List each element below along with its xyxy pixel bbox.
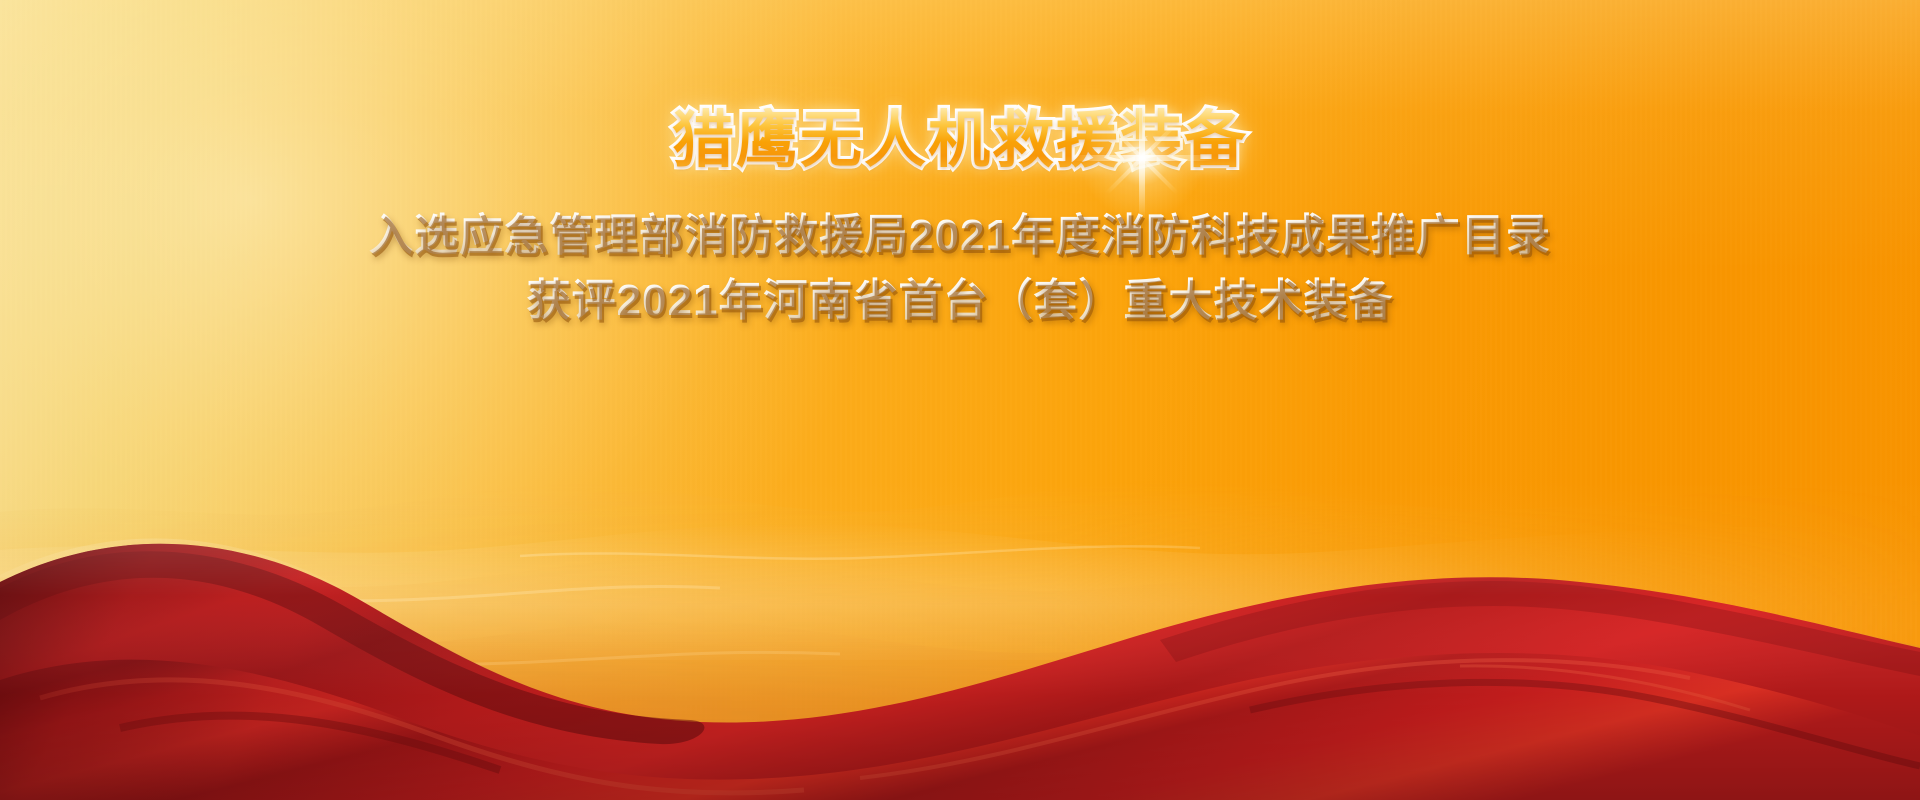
banner-text-block: 猎鹰无人机救援装备 猎鹰无人机救援装备 [0, 108, 1920, 331]
page-title: 猎鹰无人机救援装备 [672, 108, 1248, 173]
promo-banner: 猎鹰无人机救援装备 猎鹰无人机救援装备 [0, 0, 1920, 800]
subtitle-line-1: 入选应急管理部消防救援局2021年度消防科技成果推广目录 [0, 207, 1920, 266]
subtitle-line-2: 获评2021年河南省首台（套）重大技术装备 [0, 272, 1920, 331]
headline-group: 猎鹰无人机救援装备 猎鹰无人机救援装备 [672, 108, 1248, 173]
